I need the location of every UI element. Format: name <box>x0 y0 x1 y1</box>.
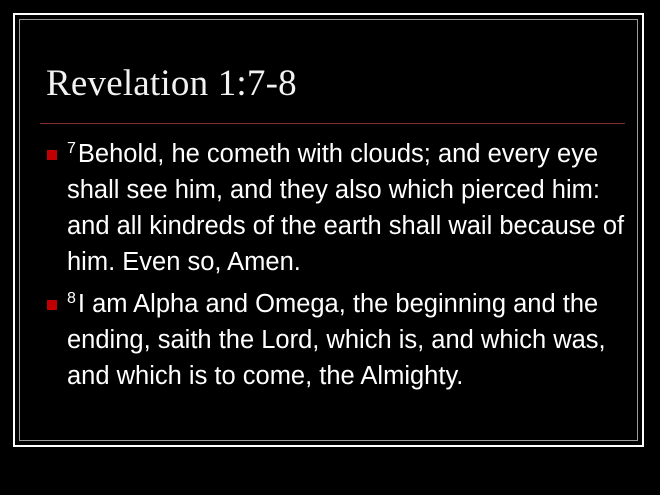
verse-body: I am Alpha and Omega, the beginning and … <box>67 290 606 390</box>
verse-number: 7 <box>67 140 78 157</box>
square-bullet-icon <box>47 300 57 310</box>
list-item: 7Behold, he cometh with clouds; and ever… <box>40 136 632 280</box>
bullet-text: 7Behold, he cometh with clouds; and ever… <box>67 136 632 280</box>
bullet-text: 8I am Alpha and Omega, the beginning and… <box>67 286 632 394</box>
square-bullet-icon <box>47 150 57 160</box>
list-item: 8I am Alpha and Omega, the beginning and… <box>40 286 632 394</box>
verse-body: Behold, he cometh with clouds; and every… <box>67 140 624 276</box>
slide-title: Revelation 1:7-8 <box>46 62 297 106</box>
verse-number: 8 <box>67 290 78 307</box>
slide-body: 7Behold, he cometh with clouds; and ever… <box>40 136 632 400</box>
title-divider-rule <box>40 123 625 124</box>
presentation-slide: Revelation 1:7-8 7Behold, he cometh with… <box>0 0 660 495</box>
